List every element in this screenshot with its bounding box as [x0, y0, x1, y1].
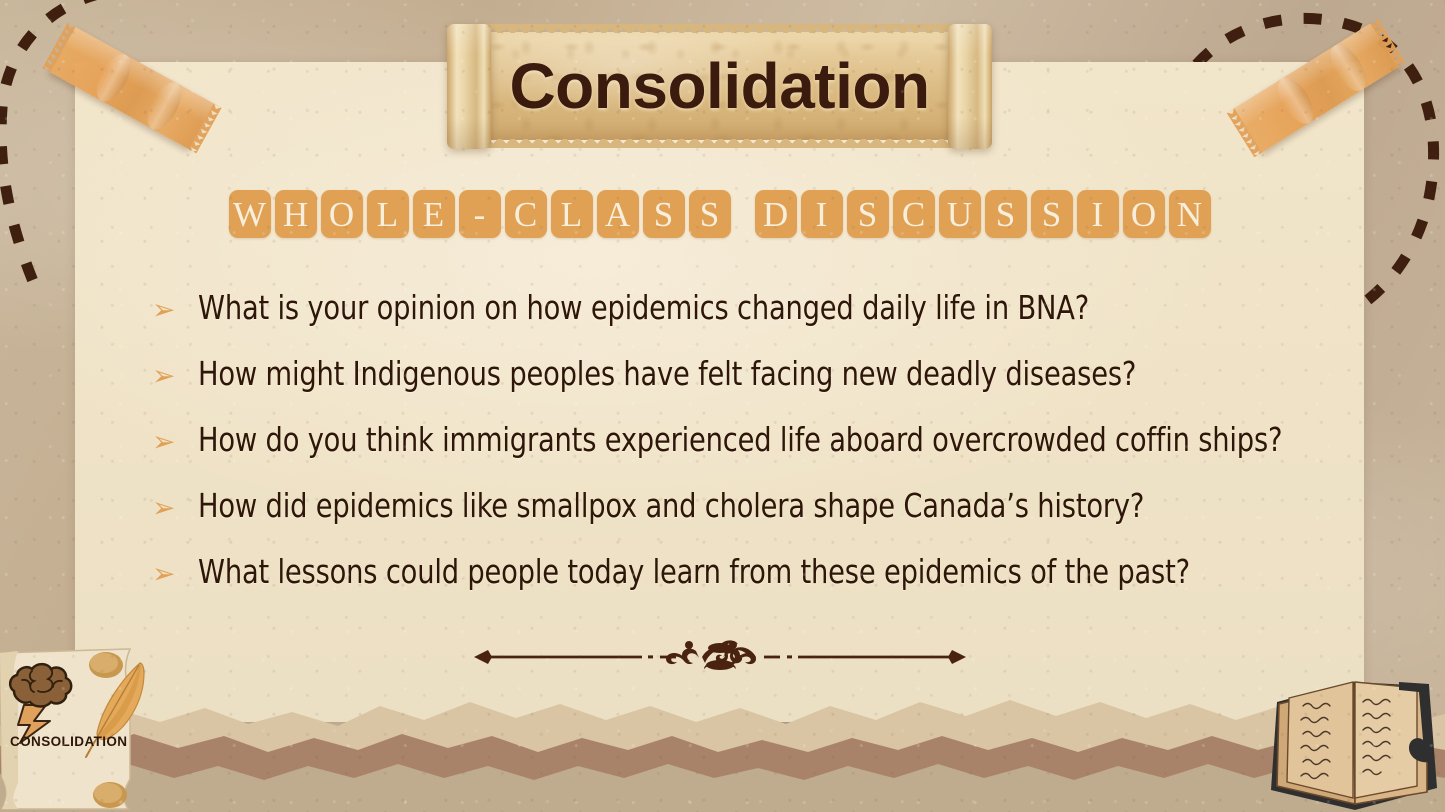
section-heading-tiles: WHOLE-CLASSDISCUSSION: [75, 190, 1364, 238]
list-item: ➢What is your opinion on how epidemics c…: [152, 286, 1332, 352]
arrow-bullet-icon: ➢: [152, 550, 198, 596]
heading-tile-s: S: [643, 190, 685, 238]
heading-tile-o: O: [321, 190, 363, 238]
flourish-divider-icon: [470, 636, 970, 678]
heading-tile-d: D: [755, 190, 797, 238]
discussion-question-text: How might Indigenous peoples have felt f…: [198, 352, 1136, 396]
arrow-bullet-icon: ➢: [152, 352, 198, 398]
consolidation-badge: CONSOLIDATION: [0, 647, 174, 812]
heading-tile-a: A: [597, 190, 639, 238]
heading-tile-c: C: [505, 190, 547, 238]
heading-tile-i: I: [1077, 190, 1119, 238]
heading-tile-i: I: [801, 190, 843, 238]
discussion-question-list: ➢What is your opinion on how epidemics c…: [152, 286, 1332, 616]
heading-tile-space: [735, 190, 751, 238]
heading-tile-dash: -: [459, 190, 501, 238]
heading-tile-s: S: [847, 190, 889, 238]
heading-tile-l: L: [367, 190, 409, 238]
heading-tile-s: S: [985, 190, 1027, 238]
list-item: ➢What lessons could people today learn f…: [152, 550, 1332, 616]
heading-tile-s: S: [1031, 190, 1073, 238]
heading-tile-e: E: [413, 190, 455, 238]
badge-label: CONSOLIDATION: [10, 734, 127, 749]
heading-tile-s: S: [689, 190, 731, 238]
arrow-bullet-icon: ➢: [152, 286, 198, 332]
heading-tile-l: L: [551, 190, 593, 238]
page-title: Consolidation: [487, 32, 952, 140]
list-item: ➢How might Indigenous peoples have felt …: [152, 352, 1332, 418]
discussion-question-text: How do you think immigrants experienced …: [198, 418, 1282, 462]
heading-tile-u: U: [939, 190, 981, 238]
open-journal-icon: [1259, 658, 1445, 812]
arrow-bullet-icon: ➢: [152, 484, 198, 530]
scroll-roll-left-icon: [447, 24, 491, 149]
heading-tile-c: C: [893, 190, 935, 238]
list-item: ➢How did epidemics like smallpox and cho…: [152, 484, 1332, 550]
heading-tile-w: W: [229, 190, 271, 238]
brain-icon: [10, 664, 71, 706]
discussion-question-text: What lessons could people today learn fr…: [198, 550, 1190, 594]
heading-tile-h: H: [275, 190, 317, 238]
title-scroll-banner: Consolidation: [447, 24, 992, 149]
slide-canvas: Consolidation WHOLE-CLASSDISCUSSION ➢Wha…: [0, 0, 1445, 812]
scroll-roll-right-icon: [948, 24, 992, 149]
heading-tile-o: O: [1123, 190, 1165, 238]
heading-tile-n: N: [1169, 190, 1211, 238]
arrow-bullet-icon: ➢: [152, 418, 198, 464]
discussion-question-text: What is your opinion on how epidemics ch…: [198, 286, 1089, 330]
discussion-question-text: How did epidemics like smallpox and chol…: [198, 484, 1144, 528]
list-item: ➢How do you think immigrants experienced…: [152, 418, 1332, 484]
ornamental-divider: [75, 636, 1364, 678]
